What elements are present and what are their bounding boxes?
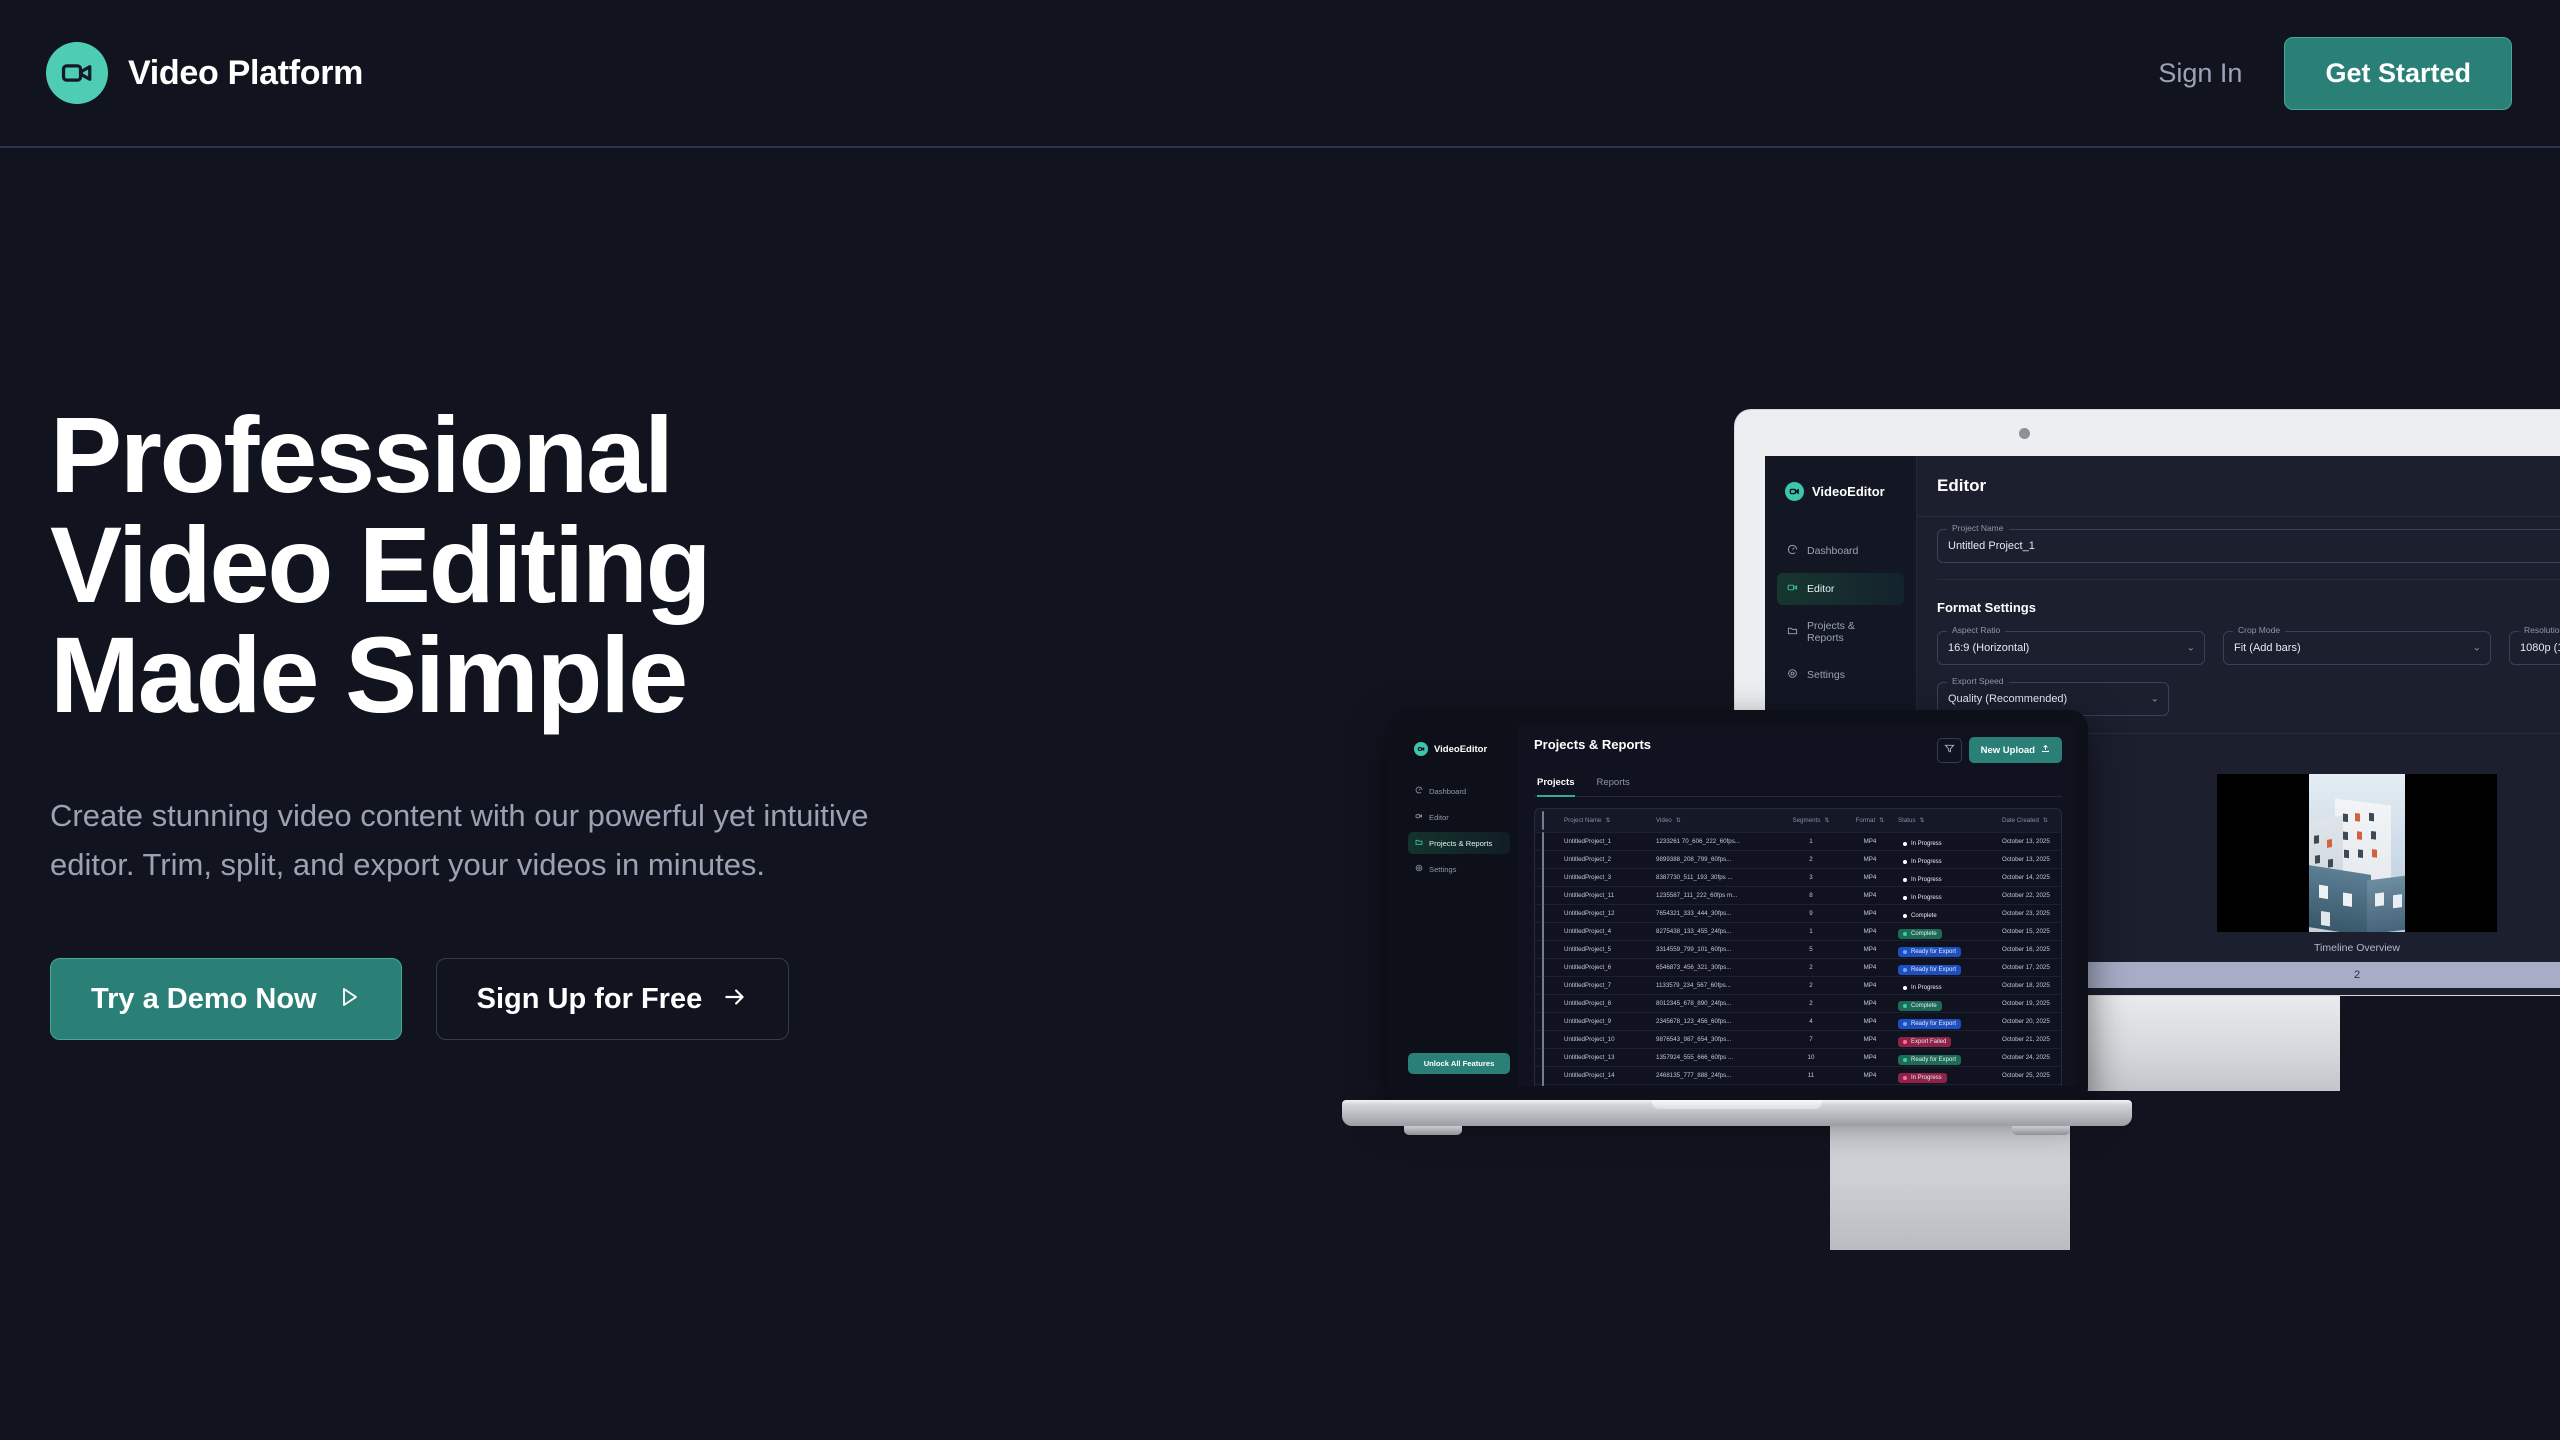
sidebar-label: Projects & Reports (1429, 839, 1492, 848)
project-name-field[interactable]: Project Name Untitled Project_1 (1937, 529, 2560, 563)
unlock-all-features-button[interactable]: Unlock All Features (1408, 1053, 1510, 1074)
cell-video: 1357924_555_666_60fps ... (1656, 1054, 1780, 1061)
cell-date-created: October 18, 2025 (2002, 982, 2062, 989)
new-upload-label: New Upload (1981, 745, 2035, 756)
gauge-icon (1415, 786, 1423, 796)
cta-row: Try a Demo Now Sign Up for Free (50, 958, 1050, 1040)
hero-subtitle: Create stunning video content with our p… (50, 792, 1050, 890)
projects-header-actions: New Upload (1937, 737, 2062, 763)
cell-format: MP4 (1842, 838, 1898, 845)
cell-status: Complete (1898, 905, 2002, 923)
cell-project-name: UntitledProject_6 (1564, 964, 1656, 971)
cell-status: Complete (1898, 1085, 2002, 1087)
status-label: Complete (1911, 1003, 1937, 1009)
sidebar-item-settings[interactable]: Settings (1408, 858, 1510, 880)
projects-tabs: Projects Reports (1537, 777, 2062, 797)
preview-frame (2309, 774, 2405, 932)
projects-brand-name: VideoEditor (1434, 744, 1487, 755)
sidebar-item-projects-reports[interactable]: Projects & Reports (1777, 611, 1904, 653)
projects-header: Projects & Reports New Upload (1534, 737, 2062, 763)
site-header: Video Platform Sign In Get Started (0, 0, 2560, 148)
table-row[interactable]: UntitledProject_88012345_678_890_24fps..… (1535, 995, 2061, 1013)
projects-app: VideoEditor Dashboard Editor (1400, 724, 2076, 1086)
laptop-trackpad-notch (1652, 1100, 1822, 1109)
cell-project-name: UntitledProject_2 (1564, 856, 1656, 863)
cell-status: Ready for Export (1898, 1013, 2002, 1031)
chevron-down-icon: ⌄ (2187, 643, 2195, 654)
sort-icon: ⇅ (1605, 817, 1610, 824)
row-checkbox[interactable] (1542, 850, 1544, 869)
status-dot (1903, 1022, 1907, 1026)
cell-video: 9876543_987_654_30fps... (1656, 1036, 1780, 1043)
cell-format: MP4 (1842, 1036, 1898, 1043)
column-header-date-created[interactable]: Date Created⇅ (2002, 817, 2062, 824)
cell-status: Ready for Export (1898, 959, 2002, 977)
table-row[interactable]: UntitledProject_48275438_133_455_24fps..… (1535, 923, 2061, 941)
status-label: Complete (1911, 913, 1937, 919)
projects-main: Projects & Reports New Upload (1518, 724, 2076, 1086)
status-dot (1903, 1076, 1907, 1080)
status-badge: Ready for Export (1898, 1019, 1961, 1029)
editor-brand-name: VideoEditor (1812, 484, 1885, 499)
status-label: In Progress (1911, 877, 1942, 883)
cell-video: 1235587_111_222_60fps m... (1656, 892, 1780, 899)
sidebar-label: Settings (1807, 669, 1845, 681)
projects-page-title: Projects & Reports (1534, 737, 1651, 752)
cell-segments: 8 (1780, 892, 1842, 899)
cell-video: 6546873_456_321_30fps... (1656, 964, 1780, 971)
sort-icon: ⇅ (1676, 817, 1681, 824)
col-label: Date Created (2002, 817, 2039, 824)
sidebar-item-settings[interactable]: Settings (1777, 659, 1904, 691)
chevron-down-icon: ⌄ (2473, 643, 2481, 654)
editor-brand: VideoEditor (1785, 482, 1904, 501)
status-badge: Ready for Export (1898, 947, 1961, 957)
cell-date-created: October 13, 2025 (2002, 838, 2062, 845)
filter-button[interactable] (1937, 738, 1962, 763)
resolution-value: 1080p (1920x1080) (2520, 642, 2560, 654)
row-checkbox[interactable] (1542, 868, 1544, 887)
cell-status: In Progress (1898, 1067, 2002, 1085)
upload-icon (2041, 744, 2050, 756)
video-camera-icon (1785, 482, 1804, 501)
cell-project-name: UntitledProject_5 (1564, 946, 1656, 953)
cell-date-created: October 16, 2025 (2002, 946, 2062, 953)
status-badge: Complete (1898, 1001, 1942, 1011)
filter-icon (1944, 741, 1955, 759)
hero-title-line-1: Professional (50, 400, 1050, 510)
cell-format: MP4 (1842, 964, 1898, 971)
status-badge: In Progress (1898, 857, 1947, 867)
video-camera-icon (1414, 742, 1428, 756)
sidebar-label: Settings (1429, 865, 1456, 874)
cell-format: MP4 (1842, 946, 1898, 953)
cell-segments: 7 (1780, 1036, 1842, 1043)
building-base-c (2309, 865, 2371, 932)
try-demo-button[interactable]: Try a Demo Now (50, 958, 402, 1040)
col-label: Video (1656, 817, 1672, 824)
row-checkbox[interactable] (1542, 886, 1544, 905)
cell-video: 2345678_123_456_60fps... (1656, 1018, 1780, 1025)
cell-date-created: October 14, 2025 (2002, 874, 2062, 881)
table-row[interactable]: UntitledProject_53314559_799_101_60fps..… (1535, 941, 2061, 959)
sidebar-label: Editor (1429, 813, 1449, 822)
cell-status: Ready for Export (1898, 1049, 2002, 1067)
cell-video: 9899388_208_799_60fps... (1656, 856, 1780, 863)
cell-format: MP4 (1842, 928, 1898, 935)
hero-title-line-3: Made Simple (50, 620, 1050, 730)
product-mockups: VideoEditor Dashboard Editor (1360, 390, 2560, 1250)
sidebar-label: Dashboard (1807, 545, 1858, 557)
cell-format: MP4 (1842, 874, 1898, 881)
cell-segments: 2 (1780, 982, 1842, 989)
cell-project-name: UntitledProject_3 (1564, 874, 1656, 881)
cell-segments: 2 (1780, 856, 1842, 863)
cell-date-created: October 21, 2025 (2002, 1036, 2062, 1043)
cell-format: MP4 (1842, 856, 1898, 863)
cell-format: MP4 (1842, 1018, 1898, 1025)
row-checkbox[interactable] (1542, 832, 1544, 851)
status-label: In Progress (1911, 841, 1942, 847)
column-header-format[interactable]: Format⇅ (1842, 817, 1898, 824)
aspect-ratio-label: Aspect Ratio (1947, 625, 2005, 635)
laptop-foot-left (1404, 1126, 1462, 1135)
column-header-status[interactable]: Status⇅ (1898, 817, 2002, 824)
editor-topbar: Editor Save Export (1917, 456, 2560, 514)
format-settings-heading: Format Settings (1937, 600, 2560, 615)
hero-title-line-2: Video Editing (50, 510, 1050, 620)
cell-segments: 2 (1780, 1000, 1842, 1007)
cell-project-name: UntitledProject_14 (1564, 1072, 1656, 1079)
cell-status: In Progress (1898, 887, 2002, 905)
cell-video: 2468135_777_888_24fps... (1656, 1072, 1780, 1079)
sidebar-item-projects-reports[interactable]: Projects & Reports (1408, 832, 1510, 854)
editor-page-title: Editor (1937, 476, 1986, 496)
status-label: Complete (1911, 931, 1937, 937)
cell-status: Ready for Export (1898, 941, 2002, 959)
sidebar-label: Editor (1807, 583, 1834, 595)
column-header-project-name[interactable]: Project Name⇅ (1564, 817, 1656, 824)
cell-date-created: October 23, 2025 (2002, 910, 2062, 917)
sign-up-button[interactable]: Sign Up for Free (436, 958, 790, 1040)
table-row[interactable]: UntitledProject_142468135_777_888_24fps.… (1535, 1067, 2061, 1085)
status-label: In Progress (1911, 985, 1942, 991)
cell-status: In Progress (1898, 977, 2002, 995)
gauge-icon (1787, 544, 1798, 558)
landing-page: Video Platform Sign In Get Started Profe… (0, 0, 2560, 1440)
cell-segments: 4 (1780, 1018, 1842, 1025)
table-row[interactable]: UntitledProject_29899388_208_799_60fps..… (1535, 851, 2061, 869)
column-header-video[interactable]: Video⇅ (1656, 817, 1780, 824)
video-player-preview[interactable] (2217, 774, 2497, 932)
status-badge: In Progress (1898, 1073, 1947, 1083)
cell-status: Export Failed (1898, 1031, 2002, 1049)
hero-subtitle-line-2: editor. Trim, split, and export your vid… (50, 841, 1050, 890)
row-checkbox[interactable] (1542, 922, 1544, 941)
cell-date-created: October 22, 2025 (2002, 892, 2062, 899)
laptop-foot-right (2012, 1126, 2070, 1135)
cell-project-name: UntitledProject_10 (1564, 1036, 1656, 1043)
laptop-notch (1684, 710, 1792, 723)
video-icon (1787, 582, 1798, 596)
status-label: Ready for Export (1911, 1057, 1956, 1063)
projects-nav: Dashboard Editor Projects & Reports (1408, 780, 1510, 880)
sidebar-item-dashboard[interactable]: Dashboard (1408, 780, 1510, 802)
header-actions: Sign In Get Started (2158, 37, 2512, 110)
cell-segments: 10 (1780, 1054, 1842, 1061)
project-name-value: Untitled Project_1 (1948, 540, 2035, 552)
row-checkbox[interactable] (1542, 904, 1544, 923)
cell-format: MP4 (1842, 910, 1898, 917)
status-label: Export Failed (1911, 1039, 1946, 1045)
aspect-ratio-value: 16:9 (Horizontal) (1948, 642, 2029, 654)
cell-segments: 9 (1780, 910, 1842, 917)
export-speed-value: Quality (Recommended) (1948, 693, 2067, 705)
cell-format: MP4 (1842, 982, 1898, 989)
hero-section: Professional Video Editing Made Simple C… (50, 400, 1050, 1040)
status-badge: In Progress (1898, 875, 1947, 885)
sidebar-label: Dashboard (1429, 787, 1466, 796)
col-label: Segments (1792, 817, 1820, 824)
export-speed-label: Export Speed (1947, 676, 2009, 686)
cell-date-created: October 24, 2025 (2002, 1054, 2062, 1061)
row-checkbox[interactable] (1542, 1012, 1544, 1031)
table-row[interactable]: UntitledProject_11233261 70_606_222_60fp… (1535, 833, 2061, 851)
table-header-row: Project Name⇅ Video⇅ Segments⇅ Format⇅ S… (1535, 809, 2061, 833)
try-demo-label: Try a Demo Now (91, 983, 317, 1016)
status-dot (1903, 860, 1907, 864)
sort-icon: ⇅ (1920, 817, 1925, 824)
cell-status: In Progress (1898, 851, 2002, 869)
cell-status: In Progress (1898, 869, 2002, 887)
cell-video: 1233261 70_606_222_60fps... (1656, 838, 1780, 845)
status-label: In Progress (1911, 1075, 1942, 1081)
building-base-d (2367, 876, 2405, 932)
sidebar-item-dashboard[interactable]: Dashboard (1777, 535, 1904, 567)
status-badge: Complete (1898, 911, 1942, 921)
status-dot (1903, 986, 1907, 990)
resolution-select[interactable]: Resolution 1080p (1920x1080) ⌄ (2509, 631, 2560, 665)
laptop-screen: VideoEditor Dashboard Editor (1400, 724, 2076, 1086)
cell-project-name: UntitledProject_8 (1564, 1000, 1656, 1007)
gear-icon (1787, 668, 1798, 682)
video-camera-icon (46, 42, 108, 104)
row-checkbox[interactable] (1542, 958, 1544, 977)
status-badge: In Progress (1898, 983, 1947, 993)
cell-format: MP4 (1842, 1072, 1898, 1079)
status-dot (1903, 1040, 1907, 1044)
cell-project-name: UntitledProject_13 (1564, 1054, 1656, 1061)
table-row[interactable]: UntitledProject_159871234_999_000_60fps.… (1535, 1085, 2061, 1086)
sign-up-label: Sign Up for Free (477, 983, 703, 1016)
folder-icon (1787, 625, 1798, 639)
cell-format: MP4 (1842, 892, 1898, 899)
cell-segments: 5 (1780, 946, 1842, 953)
col-label: Project Name (1564, 817, 1601, 824)
row-checkbox[interactable] (1542, 1048, 1544, 1067)
status-badge: In Progress (1898, 839, 1947, 849)
table-row[interactable]: UntitledProject_92345678_123_456_60fps..… (1535, 1013, 2061, 1031)
cell-date-created: October 17, 2025 (2002, 964, 2062, 971)
folder-icon (1415, 838, 1423, 848)
status-label: In Progress (1911, 859, 1942, 865)
cell-video: 8387730_511_193_30fps ... (1656, 874, 1780, 881)
cell-segments: 3 (1780, 874, 1842, 881)
tab-reports[interactable]: Reports (1597, 777, 1630, 797)
crop-mode-select[interactable]: Crop Mode Fit (Add bars) ⌄ (2223, 631, 2491, 665)
table-row[interactable]: UntitledProject_66546873_456_321_30fps..… (1535, 959, 2061, 977)
projects-sidebar: VideoEditor Dashboard Editor (1400, 724, 1518, 1086)
cell-video: 7654321_333_444_30fps... (1656, 910, 1780, 917)
status-label: Ready for Export (1911, 1021, 1956, 1027)
col-label: Format (1856, 817, 1876, 824)
table-row[interactable]: UntitledProject_111235587_111_222_60fps … (1535, 887, 2061, 905)
project-name-label: Project Name (1947, 523, 2009, 533)
status-label: Ready for Export (1911, 967, 1956, 973)
status-badge: Complete (1898, 929, 1942, 939)
cell-project-name: UntitledProject_11 (1564, 892, 1656, 899)
sort-icon: ⇅ (2043, 817, 2048, 824)
cell-video: 1133579_234_567_60fps... (1656, 982, 1780, 989)
status-label: In Progress (1911, 895, 1942, 901)
tab-projects[interactable]: Projects (1537, 777, 1575, 797)
format-row-1: Aspect Ratio 16:9 (Horizontal) ⌄ Crop Mo… (1937, 631, 2560, 665)
status-dot (1903, 1058, 1907, 1062)
row-checkbox[interactable] (1542, 1030, 1544, 1049)
brand-logo[interactable]: Video Platform (46, 42, 363, 104)
status-badge: Ready for Export (1898, 965, 1961, 975)
status-label: Ready for Export (1911, 949, 1956, 955)
cell-date-created: October 20, 2025 (2002, 1018, 2062, 1025)
table-row[interactable]: UntitledProject_127654321_333_444_30fps.… (1535, 905, 2061, 923)
status-dot (1903, 932, 1907, 936)
play-icon (337, 985, 361, 1014)
table-row[interactable]: UntitledProject_109876543_987_654_30fps.… (1535, 1031, 2061, 1049)
sidebar-item-editor[interactable]: Editor (1777, 573, 1904, 605)
row-checkbox[interactable] (1542, 976, 1544, 995)
cell-date-created: October 25, 2025 (2002, 1072, 2062, 1079)
row-checkbox[interactable] (1542, 940, 1544, 959)
cell-format: MP4 (1842, 1000, 1898, 1007)
cell-project-name: UntitledProject_12 (1564, 910, 1656, 917)
cell-date-created: October 15, 2025 (2002, 928, 2062, 935)
sidebar-label: Projects & Reports (1807, 620, 1894, 644)
new-upload-button[interactable]: New Upload (1969, 737, 2062, 763)
status-dot (1903, 896, 1907, 900)
status-dot (1903, 842, 1907, 846)
laptop-base (1342, 1100, 2132, 1126)
editor-nav: Dashboard Editor Projects & Reports (1777, 535, 1904, 691)
status-dot (1903, 968, 1907, 972)
cell-project-name: UntitledProject_4 (1564, 928, 1656, 935)
cell-segments: 2 (1780, 964, 1842, 971)
page-title: Professional Video Editing Made Simple (50, 400, 1050, 730)
projects-brand: VideoEditor (1414, 742, 1510, 756)
cell-project-name: UntitledProject_1 (1564, 838, 1656, 845)
laptop-lid: VideoEditor Dashboard Editor (1388, 710, 2088, 1106)
cell-date-created: October 13, 2025 (2002, 856, 2062, 863)
col-label: Status (1898, 817, 1916, 824)
status-dot (1903, 950, 1907, 954)
gear-icon (1415, 864, 1423, 874)
cell-status: Complete (1898, 923, 2002, 941)
cell-video: 3314559_799_101_60fps... (1656, 946, 1780, 953)
column-header-segments[interactable]: Segments⇅ (1780, 817, 1842, 824)
cell-video: 8012345_678_890_24fps... (1656, 1000, 1780, 1007)
row-checkbox[interactable] (1542, 1084, 1544, 1087)
divider (1937, 579, 2560, 580)
cell-status: In Progress (1898, 833, 2002, 851)
sort-icon: ⇅ (1879, 817, 1884, 824)
status-dot (1903, 878, 1907, 882)
status-badge: Export Failed (1898, 1037, 1951, 1047)
webcam-icon (2019, 428, 2030, 439)
get-started-button[interactable]: Get Started (2284, 37, 2512, 110)
cell-project-name: UntitledProject_9 (1564, 1018, 1656, 1025)
hero-subtitle-line-1: Create stunning video content with our p… (50, 792, 1050, 841)
select-all-checkbox[interactable] (1542, 811, 1544, 830)
cell-project-name: UntitledProject_7 (1564, 982, 1656, 989)
cell-segments: 1 (1780, 928, 1842, 935)
sign-in-link[interactable]: Sign In (2158, 58, 2242, 89)
cell-status: Complete (1898, 995, 2002, 1013)
status-dot (1903, 1004, 1907, 1008)
aspect-ratio-select[interactable]: Aspect Ratio 16:9 (Horizontal) ⌄ (1937, 631, 2205, 665)
brand-name: Video Platform (128, 54, 363, 93)
arrow-right-icon (722, 984, 748, 1015)
video-icon (1415, 812, 1423, 822)
laptop-device: VideoEditor Dashboard Editor (1342, 710, 2132, 1150)
projects-table: Project Name⇅ Video⇅ Segments⇅ Format⇅ S… (1534, 808, 2062, 1086)
cell-video: 8275438_133_455_24fps... (1656, 928, 1780, 935)
resolution-label: Resolution (2519, 625, 2560, 635)
cell-date-created: October 19, 2025 (2002, 1000, 2062, 1007)
crop-mode-value: Fit (Add bars) (2234, 642, 2301, 654)
cell-segments: 11 (1780, 1072, 1842, 1079)
sort-icon: ⇅ (1824, 817, 1829, 824)
row-checkbox[interactable] (1542, 1066, 1544, 1085)
cell-segments: 1 (1780, 838, 1842, 845)
crop-mode-label: Crop Mode (2233, 625, 2285, 635)
chevron-down-icon: ⌄ (2151, 694, 2159, 705)
status-badge: In Progress (1898, 893, 1947, 903)
table-row[interactable]: UntitledProject_131357924_555_666_60fps … (1535, 1049, 2061, 1067)
row-checkbox[interactable] (1542, 994, 1544, 1013)
table-row[interactable]: UntitledProject_38387730_511_193_30fps .… (1535, 869, 2061, 887)
table-row[interactable]: UntitledProject_71133579_234_567_60fps..… (1535, 977, 2061, 995)
sidebar-item-editor[interactable]: Editor (1408, 806, 1510, 828)
status-dot (1903, 914, 1907, 918)
status-badge: Ready for Export (1898, 1055, 1961, 1065)
cell-format: MP4 (1842, 1054, 1898, 1061)
